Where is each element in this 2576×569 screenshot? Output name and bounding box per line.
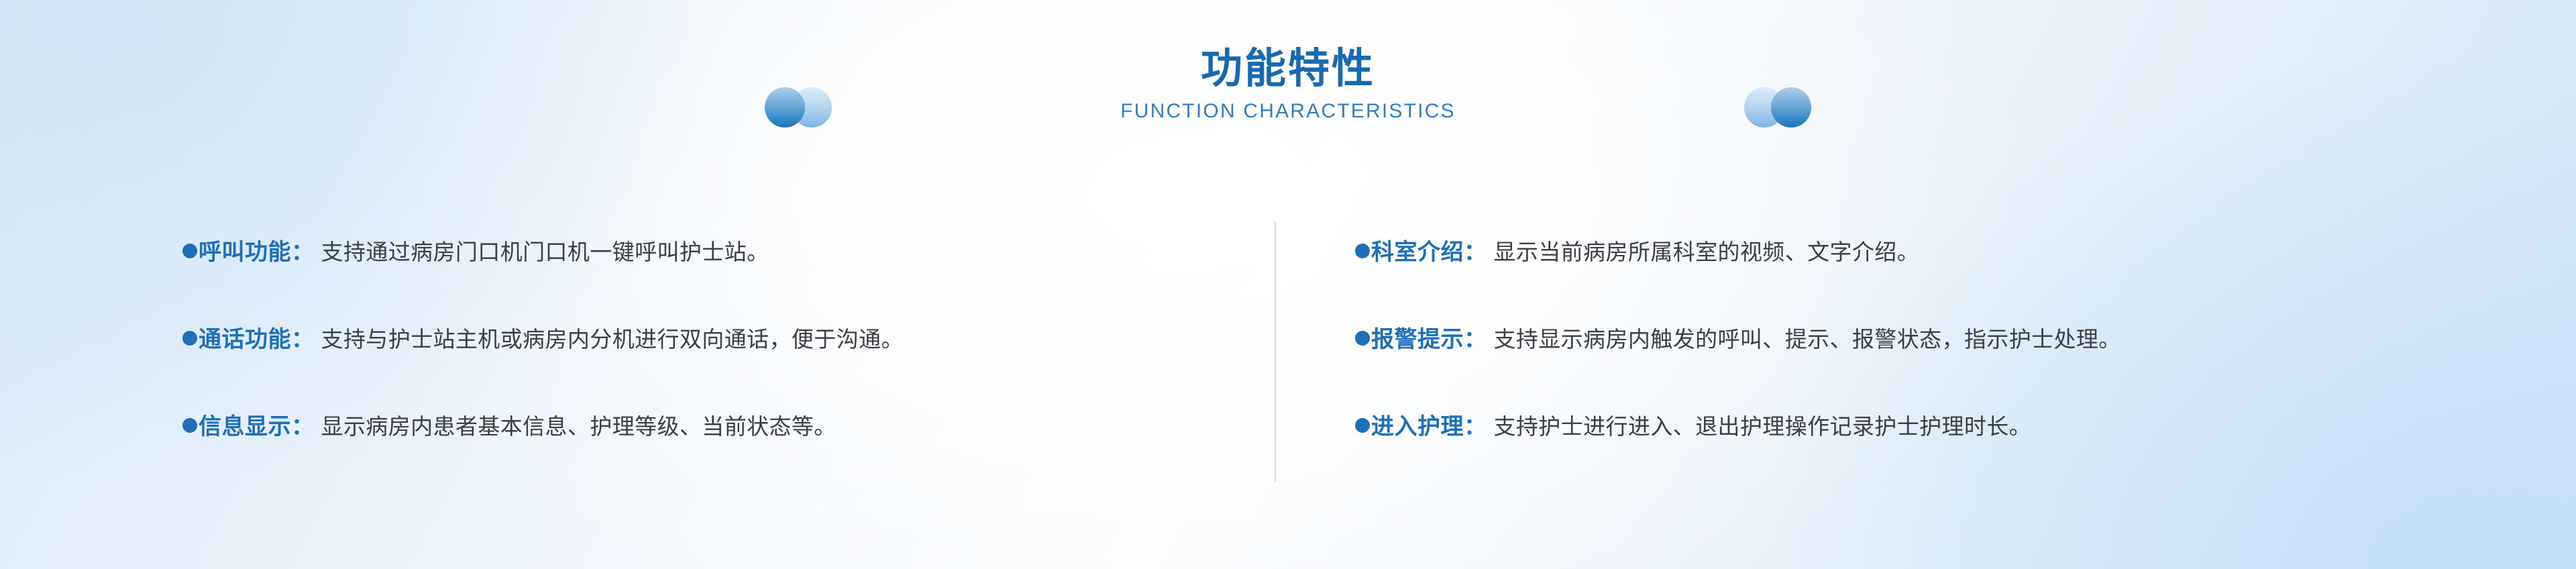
feature-item-department-intro: 科室介绍： 显示当前病房所属科室的视频、文字介绍。 [1355,234,2576,321]
bullet-dot-icon [1355,244,1370,258]
feature-description: 支持显示病房内触发的呼叫、提示、报警状态，指示护士处理。 [1494,321,2121,354]
page-title: 功能特性 [1201,47,1375,91]
feature-columns: 呼叫功能： 支持通过病房门口机门口机一键呼叫护士站。 通话功能： 支持与护士站主… [0,234,2576,495]
feature-label: 通话功能： [199,321,315,354]
feature-description: 显示病房内患者基本信息、护理等级、当前状态等。 [321,409,837,441]
feature-description: 支持与护士站主机或病房内分机进行双向通话，便于沟通。 [321,321,904,354]
feature-item-talk-function: 通话功能： 支持与护士站主机或病房内分机进行双向通话，便于沟通。 [182,321,1275,408]
bullet-dot-icon [1355,418,1370,433]
bullet-dot-icon [182,331,197,346]
bullet-dot-icon [1355,331,1370,346]
feature-characteristics-section: 功能特性 FUNCTION CHARACTERISTICS 呼叫功能： 支持通过… [0,0,2576,569]
feature-column-left: 呼叫功能： 支持通过病房门口机门口机一键呼叫护士站。 通话功能： 支持与护士站主… [0,234,1275,495]
bullet-dot-icon [182,418,197,433]
feature-description: 显示当前病房所属科室的视频、文字介绍。 [1494,234,1920,266]
page-subtitle: FUNCTION CHARACTERISTICS [1120,100,1455,123]
feature-description: 支持护士进行进入、退出护理操作记录护士护理时长。 [1494,409,2032,441]
feature-item-info-display: 信息显示： 显示病房内患者基本信息、护理等级、当前状态等。 [182,408,1275,495]
feature-label: 科室介绍： [1371,234,1487,266]
feature-item-enter-nursing: 进入护理： 支持护士进行进入、退出护理操作记录护士护理时长。 [1355,408,2576,495]
section-header: 功能特性 FUNCTION CHARACTERISTICS [0,47,2576,161]
feature-column-right: 科室介绍： 显示当前病房所属科室的视频、文字介绍。 报警提示： 支持显示病房内触… [1275,234,2576,495]
feature-item-call-function: 呼叫功能： 支持通过病房门口机门口机一键呼叫护士站。 [182,234,1275,321]
feature-label: 报警提示： [1371,321,1487,354]
feature-description: 支持通过病房门口机门口机一键呼叫护士站。 [321,234,769,266]
feature-label: 进入护理： [1371,408,1487,441]
feature-label: 呼叫功能： [199,234,315,266]
feature-item-alarm-prompt: 报警提示： 支持显示病房内触发的呼叫、提示、报警状态，指示护士处理。 [1355,321,2576,408]
bullet-dot-icon [182,244,197,258]
title-block: 功能特性 FUNCTION CHARACTERISTICS [939,47,1637,123]
feature-label: 信息显示： [199,408,315,441]
